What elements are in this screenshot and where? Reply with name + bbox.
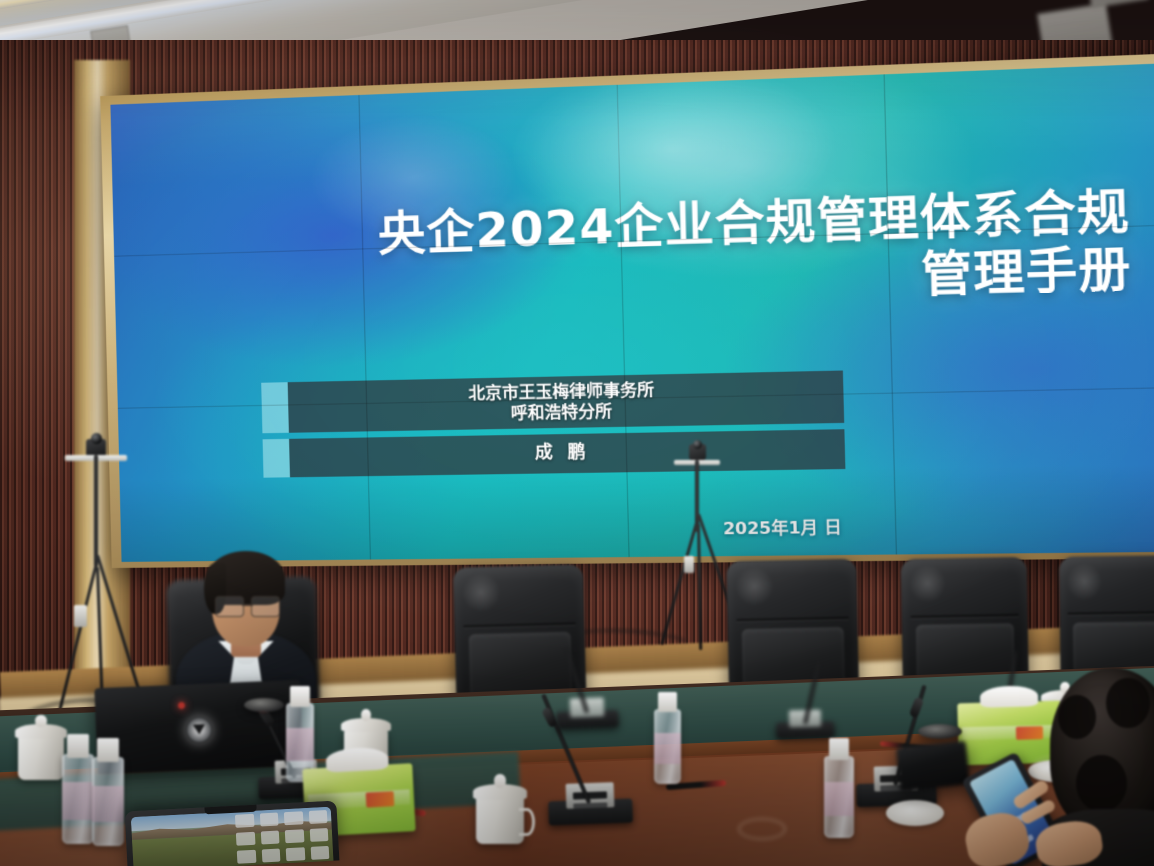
tripod-battery-center	[684, 556, 694, 573]
chair-4-highlight	[1066, 562, 1103, 600]
teacup-3-body	[476, 797, 524, 844]
table-ring-mark-2	[738, 818, 786, 840]
teacup-3-knob	[494, 774, 506, 787]
video-wall-display[interactable]: 央企2024企业合规管理体系合规 管理手册 北京市王玉梅律师事务所 呼和浩特分所…	[110, 64, 1154, 562]
tripod-leg-center-c	[697, 524, 702, 650]
person-right-curl-2	[1106, 678, 1150, 728]
glasses-right-lens	[251, 596, 280, 618]
person-right-curl-1	[1058, 695, 1096, 739]
water-bottle-1-cap	[67, 734, 89, 758]
mic-2[interactable]	[547, 767, 633, 826]
table-puck-1	[244, 698, 284, 712]
mic-5[interactable]	[776, 699, 835, 738]
video-wall-vignette	[110, 64, 1154, 562]
water-bottle-5	[824, 738, 854, 838]
laptop-open-bezel	[125, 800, 340, 866]
tissue-box-right-logo-icon	[1016, 726, 1043, 740]
person-right-foreground	[1050, 668, 1154, 836]
laptop-open-foreground[interactable]	[125, 800, 340, 866]
water-bottle-4-label	[654, 733, 681, 764]
water-bottle-5-label	[824, 782, 854, 816]
desktop-icon[interactable]	[235, 814, 254, 828]
man-glasses-icon	[215, 596, 279, 616]
desktop-icon[interactable]	[308, 810, 327, 824]
person-right-curl-3	[1076, 755, 1127, 812]
tissue-box-left-logo-icon	[365, 791, 394, 807]
water-bottle-3-label	[286, 728, 314, 761]
tissue-box-right-paper	[980, 685, 1039, 708]
water-bottle-2-cap	[97, 738, 119, 762]
glasses-bridge	[242, 604, 254, 606]
water-bottle-5-cap	[829, 738, 849, 760]
conference-room-photo: 央企2024企业合规管理体系合规 管理手册 北京市王玉梅律师事务所 呼和浩特分所…	[0, 0, 1154, 866]
teacup-3	[476, 784, 524, 844]
water-bottle-1-label	[62, 782, 94, 819]
laptop-closed-lid-right[interactable]	[896, 740, 970, 791]
desktop-icon[interactable]	[260, 831, 279, 845]
tripod-battery-left	[74, 605, 87, 627]
laptop-brand-logo-icon	[186, 716, 213, 743]
table-puck-2	[918, 724, 962, 739]
desktop-icon[interactable]	[309, 828, 328, 842]
desktop-icon[interactable]	[310, 846, 329, 860]
video-wall-frame: 央企2024企业合规管理体系合规 管理手册 北京市王玉梅律师事务所 呼和浩特分所…	[100, 54, 1154, 568]
tissue-box-right-band	[962, 724, 1058, 740]
water-bottle-1	[62, 734, 94, 844]
teacup-1-knob	[35, 715, 46, 727]
water-bottle-3-cap	[290, 686, 309, 707]
laptop-desktop-icons[interactable]	[235, 810, 329, 861]
mic-4[interactable]	[555, 687, 618, 729]
desktop-icon[interactable]	[261, 849, 280, 863]
water-bottle-2-label	[92, 786, 124, 823]
chair-1-highlight	[461, 573, 501, 612]
laptop-open-display[interactable]	[131, 807, 334, 866]
tripod-column-left	[94, 455, 98, 567]
mic-2-button[interactable]	[573, 791, 607, 799]
camera-lens-center	[693, 440, 702, 449]
teacup-1-body	[18, 736, 64, 780]
desktop-icon[interactable]	[284, 812, 303, 826]
tripod-leg-center-a	[660, 516, 700, 646]
ceiling-air-vent-5	[1085, 0, 1149, 8]
desktop-icon[interactable]	[236, 832, 255, 846]
water-bottle-4-cap	[658, 692, 676, 712]
desktop-icon[interactable]	[285, 829, 304, 843]
glasses-left-lens	[215, 596, 244, 618]
tripod-center	[662, 460, 732, 650]
camera-lens-left	[91, 433, 102, 444]
desktop-icon[interactable]	[259, 813, 278, 827]
saucer-1	[886, 800, 944, 826]
desktop-icon[interactable]	[286, 847, 305, 861]
teacup-3-handle	[519, 808, 534, 836]
desktop-icon[interactable]	[237, 850, 256, 864]
teacup-1	[18, 724, 64, 780]
laptop-status-led-icon	[178, 702, 185, 709]
water-bottle-2	[92, 738, 124, 846]
water-bottle-4	[654, 692, 681, 784]
